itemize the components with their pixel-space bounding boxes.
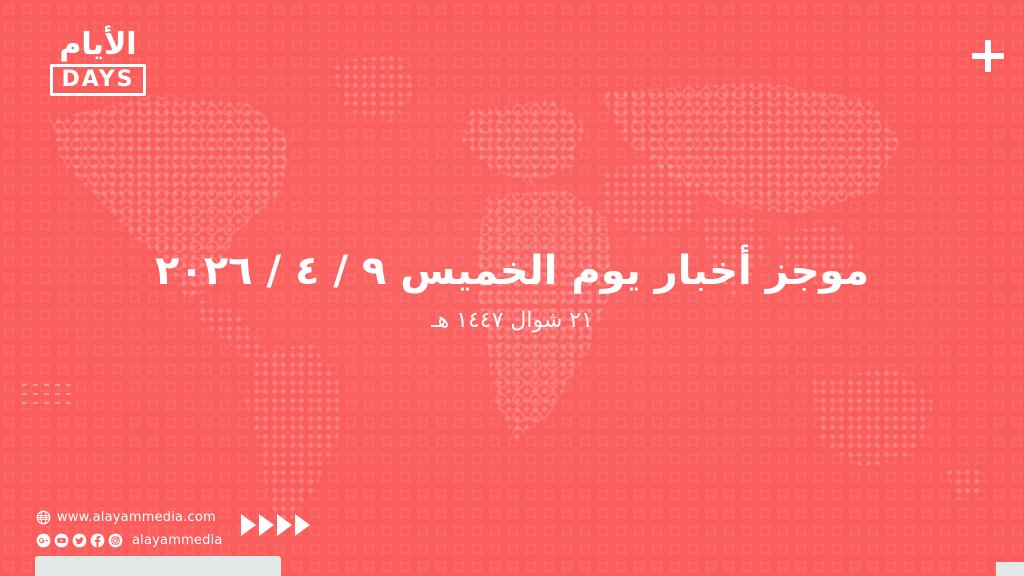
- social-handle[interactable]: alayammedia: [132, 534, 223, 547]
- headline-block: موجز أخبار يوم الخميس ٩ / ٤ / ٢٠٢٦ ٢١ شو…: [0, 248, 1024, 334]
- globe-icon: [36, 510, 51, 525]
- googleplus-icon[interactable]: [36, 533, 51, 548]
- footer-contact-block: www.alayammedia.com: [36, 510, 223, 548]
- plus-icon: [972, 40, 1004, 72]
- facebook-icon[interactable]: [90, 533, 105, 548]
- social-icon-row: [36, 533, 123, 548]
- instagram-icon[interactable]: [108, 533, 123, 548]
- social-line: alayammedia: [36, 533, 223, 548]
- dash-grid-decoration: [22, 384, 77, 411]
- hijri-date-subtitle: ٢١ شوال ١٤٤٧ هـ: [0, 308, 1024, 334]
- logo-english-text: DAYS: [50, 64, 147, 96]
- website-line: www.alayammedia.com: [36, 510, 223, 525]
- page-title: موجز أخبار يوم الخميس ٩ / ٤ / ٢٠٢٦: [0, 248, 1024, 294]
- website-url[interactable]: www.alayammedia.com: [57, 511, 216, 524]
- news-brief-slide: الأيام DAYS موجز أخبار يوم الخميس ٩ / ٤ …: [0, 0, 1024, 576]
- twitter-icon[interactable]: [72, 533, 87, 548]
- youtube-icon[interactable]: [54, 533, 69, 548]
- play-arrows-icon: [241, 514, 310, 536]
- bottom-bar-right-edge: [996, 562, 1024, 576]
- alayam-days-logo: الأيام DAYS: [38, 30, 158, 106]
- footer: www.alayammedia.com: [36, 510, 310, 548]
- logo-arabic-text: الأيام: [38, 30, 158, 60]
- bottom-bar: [35, 556, 281, 576]
